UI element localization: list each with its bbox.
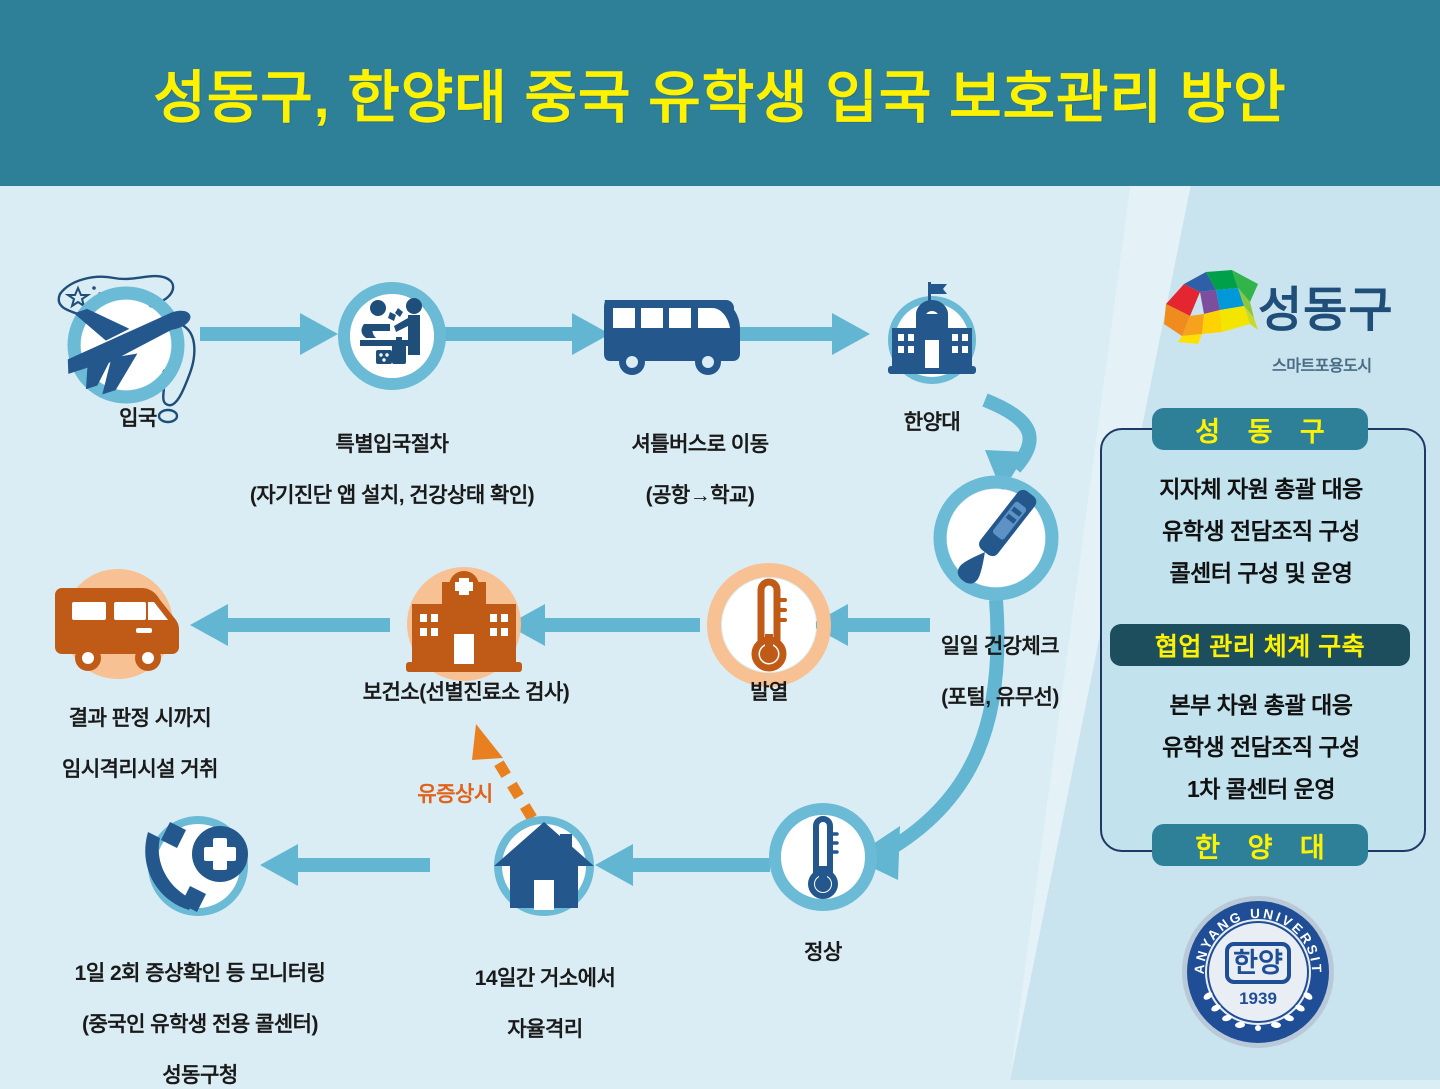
flow-step-healthcheck[interactable] <box>932 474 1060 602</box>
hospital-orange-icon <box>398 558 530 690</box>
flow-label-shuttle: 셔틀버스로 이동 (공항→학교) <box>580 406 820 508</box>
flow-label-entry: 입국 <box>48 406 228 432</box>
hanyang-role-item-3: 1차 콜센터 운영 <box>1100 770 1422 804</box>
seongdong-role-item-3: 콜센터 구성 및 운영 <box>1100 554 1422 588</box>
thermometer-orange-icon <box>706 562 832 688</box>
hanyang-university-seal: HANYANG UNIVERSITY 한양 1939 <box>1178 892 1338 1052</box>
flow-label-monitoring: 1일 2회 증상확인 등 모니터링 (중국인 유학생 전용 콜센터) 성동구청 <box>20 935 380 1089</box>
immigration-desk-icon <box>338 282 446 390</box>
hanyang-role-item-2: 유학생 전담조직 구성 <box>1100 728 1422 762</box>
phone-cross-icon <box>136 806 266 926</box>
bus-icon <box>598 292 746 382</box>
school-building-icon <box>876 278 988 396</box>
flow-label-clinic: 보건소(선별진료소 검사) <box>336 680 596 706</box>
band-collaboration-system: 협업 관리 체계 구축 <box>1110 624 1410 666</box>
flow-step-quarantine[interactable] <box>48 562 188 690</box>
flow-step-self-isolation[interactable] <box>486 808 602 924</box>
svg-text:1939: 1939 <box>1239 989 1277 1008</box>
seongdong-role-item-2: 유학생 전담조직 구성 <box>1100 512 1422 546</box>
flow-label-normal: 정상 <box>768 940 878 966</box>
digital-thermometer-icon <box>932 474 1060 602</box>
flow-label-special-entry: 특별입국절차 (자기진단 앱 설치, 건강상태 확인) <box>232 406 552 508</box>
svg-text:한양: 한양 <box>1233 948 1283 978</box>
house-icon <box>486 808 602 924</box>
flow-step-normal[interactable] <box>768 802 878 912</box>
symptom-branch-label: 유증상시 <box>400 778 510 808</box>
ambulance-van-icon <box>48 562 188 690</box>
flow-step-monitoring[interactable] <box>136 806 266 926</box>
flow-label-healthcheck: 일일 건강체크 (포털, 유무선) <box>910 608 1090 710</box>
flow-label-quarantine: 결과 판정 시까지 임시격리시설 거취 <box>20 680 260 782</box>
seongdong-role-item-1: 지자체 자원 총괄 대응 <box>1100 470 1422 504</box>
flow-step-shuttle[interactable] <box>598 292 746 382</box>
flow-step-hanyang[interactable] <box>876 278 988 396</box>
flow-step-special-entry[interactable] <box>338 282 446 390</box>
seongdong-tagline: 스마트포용도시 <box>1272 352 1372 376</box>
seongdong-wordmark: 성동구 <box>1258 270 1393 340</box>
flow-label-hanyang: 한양대 <box>862 410 1002 436</box>
flow-step-fever[interactable] <box>706 562 832 688</box>
thermometer-blue-icon <box>768 802 878 912</box>
flow-label-self-isolation: 14일간 거소에서 자율격리 <box>450 940 640 1042</box>
hanyang-role-item-1: 본부 차원 총괄 대응 <box>1100 686 1422 720</box>
badge-seongdong-gu: 성 동 구 <box>1152 408 1368 450</box>
flow-label-fever: 발열 <box>706 680 832 706</box>
badge-hanyang-university: 한 양 대 <box>1152 824 1368 866</box>
flow-step-clinic[interactable] <box>398 558 530 690</box>
